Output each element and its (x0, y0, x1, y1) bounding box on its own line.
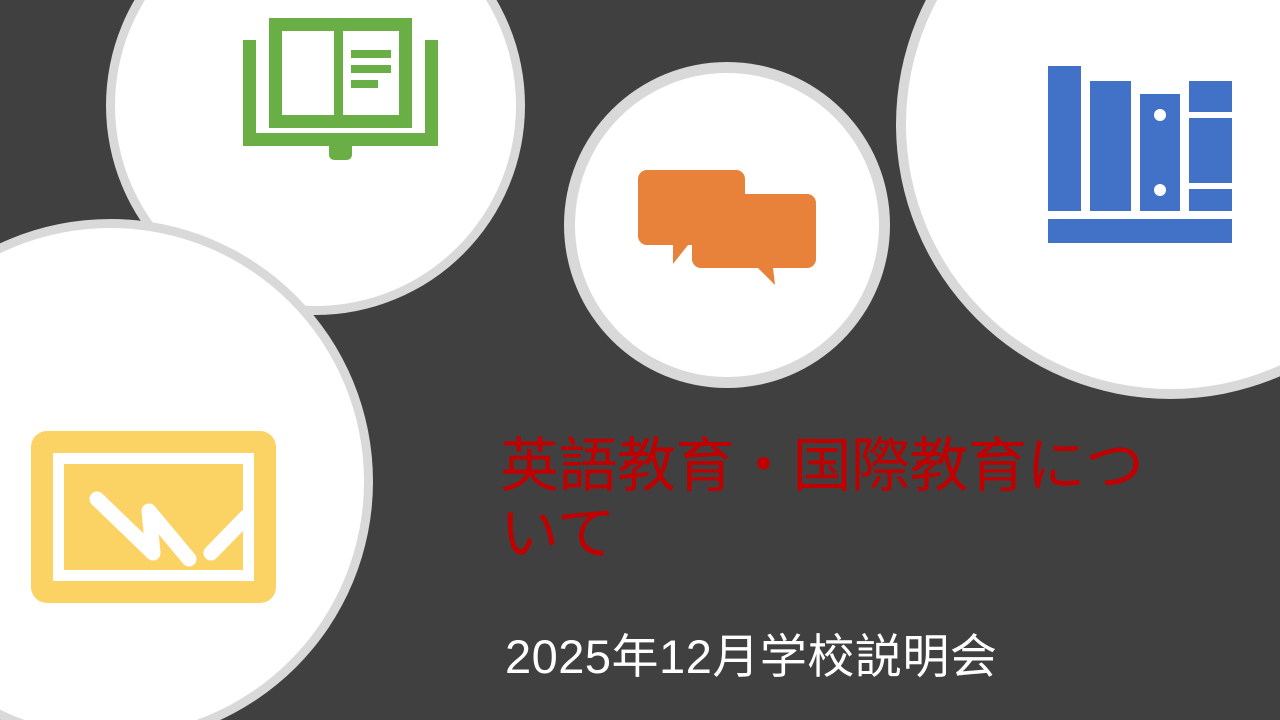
slide-subtitle: 2025年12月学校説明会 (505, 631, 997, 683)
open-book-icon (243, 18, 438, 168)
bookshelf-icon (1048, 58, 1232, 243)
writing-tablet-icon (31, 431, 276, 603)
presentation-slide: 英語教育・国際教育について 2025年12月学校説明会 (0, 0, 1280, 720)
title-block: 英語教育・国際教育について (500, 432, 1200, 569)
page-title: 英語教育・国際教育について (500, 432, 1200, 569)
chat-bubbles-icon (638, 170, 816, 285)
